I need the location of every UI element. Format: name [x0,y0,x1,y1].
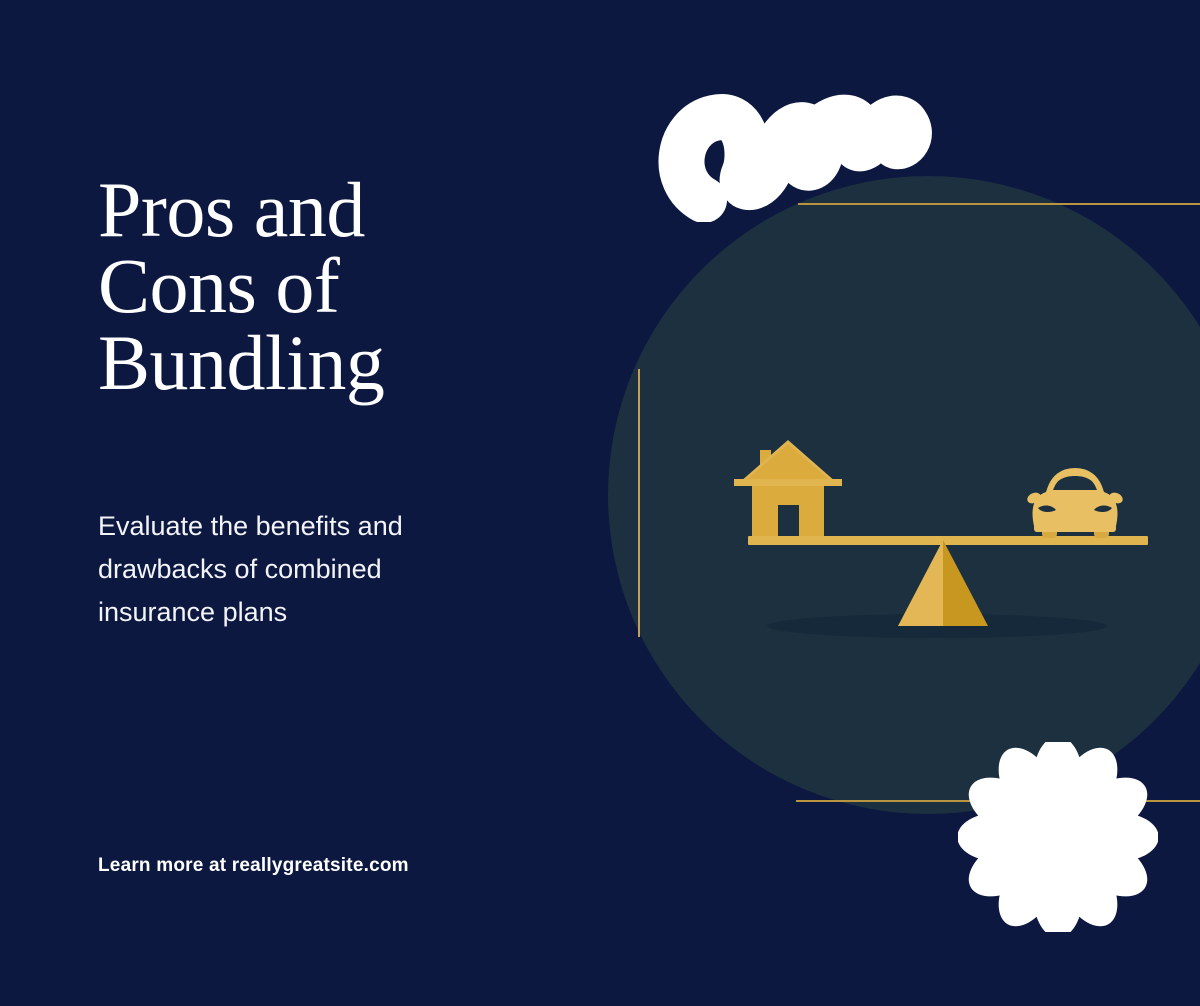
text-column: Pros and Cons of Bundling Evaluate the b… [98,0,548,1006]
fulcrum-right-face [943,540,988,626]
balance-beam [748,536,1148,545]
white-squiggle-icon [652,52,942,222]
footer-website-note: Learn more at reallygreatsite.com [98,855,409,877]
car-icon [1026,471,1125,538]
house-icon [734,440,842,536]
fulcrum-left-face [898,540,943,626]
subtitle-text: Evaluate the benefits and drawbacks of c… [98,505,498,635]
poster-canvas: Pros and Cons of Bundling Evaluate the b… [0,0,1200,1006]
gold-frame-line-left [638,369,640,637]
white-flower-icon [958,742,1158,932]
page-title: Pros and Cons of Bundling [98,172,528,401]
balance-scale-illustration [700,430,1170,660]
